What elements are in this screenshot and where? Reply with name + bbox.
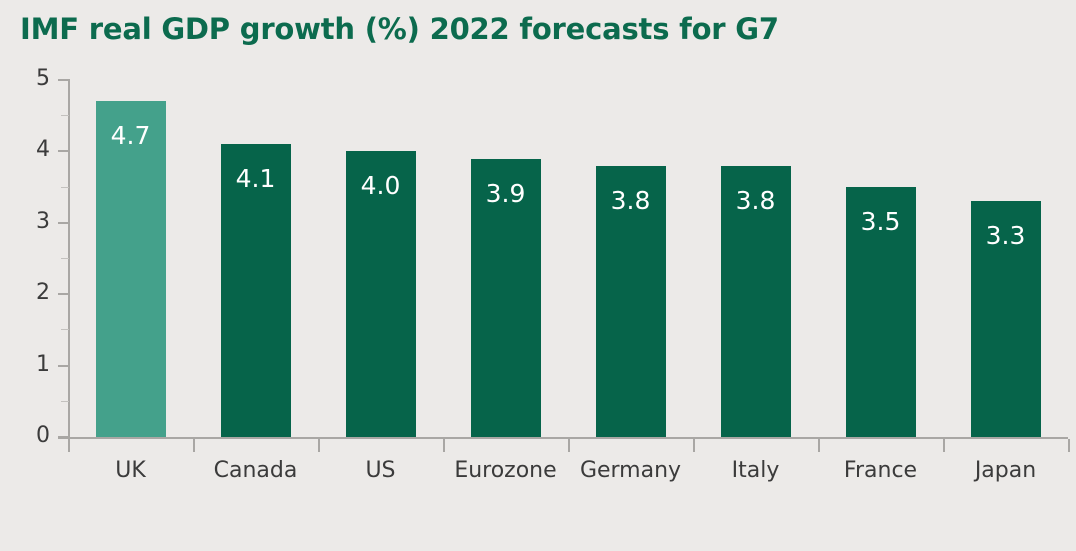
chart-title: IMF real GDP growth (%) 2022 forecasts f… (20, 12, 779, 46)
y-axis-tick (58, 79, 70, 81)
y-axis-tick-label: 2 (10, 282, 50, 304)
bar-value-label: 3.5 (846, 209, 916, 234)
x-axis-tick (193, 439, 195, 452)
y-axis-tick (58, 293, 70, 295)
x-axis-tick (818, 439, 820, 452)
y-axis-tick (58, 150, 70, 152)
bar-value-label: 3.8 (721, 188, 791, 213)
x-axis-category-label: UK (68, 458, 193, 483)
x-axis-category-label: Germany (568, 458, 693, 483)
y-axis-minor-tick (61, 401, 69, 402)
bar-value-label: 4.1 (221, 166, 291, 191)
y-axis-tick (58, 436, 70, 438)
x-axis-category-label: France (818, 458, 943, 483)
x-axis-tick (568, 439, 570, 452)
bar[interactable]: 4.1 (221, 144, 291, 437)
y-axis-tick-label: 5 (10, 68, 50, 90)
x-axis-category-label: Japan (943, 458, 1068, 483)
x-axis-line (58, 437, 1068, 439)
x-axis-category-label: US (318, 458, 443, 483)
x-axis-category-label: Italy (693, 458, 818, 483)
x-axis-tick (443, 439, 445, 452)
bar[interactable]: 3.8 (721, 166, 791, 437)
y-axis-tick-label: 0 (10, 425, 50, 447)
y-axis-line (68, 80, 70, 438)
chart-container: IMF real GDP growth (%) 2022 forecasts f… (0, 0, 1076, 551)
x-axis-tick (693, 439, 695, 452)
bar[interactable]: 3.9 (471, 159, 541, 437)
bar-value-label: 3.8 (596, 188, 666, 213)
y-axis-tick (58, 222, 70, 224)
x-axis-tick (318, 439, 320, 452)
bar[interactable]: 3.8 (596, 166, 666, 437)
y-axis-minor-tick (61, 329, 69, 330)
y-axis-tick-label: 3 (10, 211, 50, 233)
bar-value-label: 3.9 (471, 181, 541, 206)
y-axis-minor-tick (61, 115, 69, 116)
bar-value-label: 3.3 (971, 223, 1041, 248)
bar[interactable]: 4.0 (346, 151, 416, 437)
y-axis-tick (58, 365, 70, 367)
y-axis-tick-label: 1 (10, 354, 50, 376)
x-axis-tick (943, 439, 945, 452)
bar[interactable]: 3.3 (971, 201, 1041, 437)
x-axis-category-label: Canada (193, 458, 318, 483)
x-axis-tick (1068, 439, 1070, 452)
bar-value-label: 4.0 (346, 173, 416, 198)
y-axis-minor-tick (61, 187, 69, 188)
y-axis-tick-label: 4 (10, 139, 50, 161)
x-axis-tick (68, 439, 70, 452)
bar-value-label: 4.7 (96, 123, 166, 148)
bar[interactable]: 4.7 (96, 101, 166, 437)
bar[interactable]: 3.5 (846, 187, 916, 437)
x-axis-category-label: Eurozone (443, 458, 568, 483)
y-axis-minor-tick (61, 258, 69, 259)
